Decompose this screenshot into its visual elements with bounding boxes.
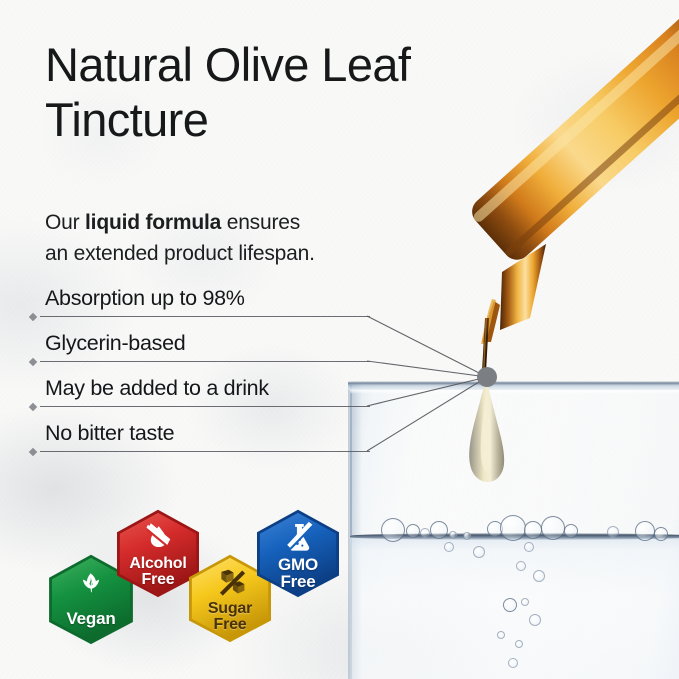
badge-gmo-free: GMOFree bbox=[253, 508, 343, 598]
certification-badges: VeganAlcoholFreeSugarFreeGMOFree bbox=[0, 0, 679, 679]
badge-hexagon bbox=[253, 508, 343, 598]
product-infographic: Absorption up to 98%Glycerin-basedMay be… bbox=[0, 0, 679, 679]
